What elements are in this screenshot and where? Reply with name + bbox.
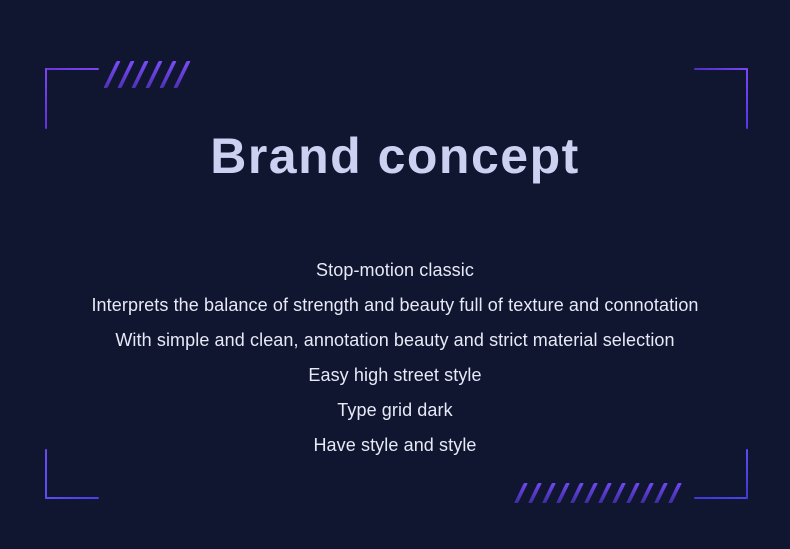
brand-concept-poster: Brand concept Stop-motion classicInterpr… xyxy=(0,0,790,549)
tagline-line: Interprets the balance of strength and b… xyxy=(0,288,790,323)
poster-content: Brand concept Stop-motion classicInterpr… xyxy=(0,0,790,549)
tagline-line: Type grid dark xyxy=(0,393,790,428)
page-title: Brand concept xyxy=(210,131,580,181)
tagline-line: Have style and style xyxy=(0,428,790,463)
tagline-line: Easy high street style xyxy=(0,358,790,393)
tagline-line: With simple and clean, annotation beauty… xyxy=(0,323,790,358)
tagline-line: Stop-motion classic xyxy=(0,253,790,288)
tagline-list: Stop-motion classicInterprets the balanc… xyxy=(0,253,790,463)
